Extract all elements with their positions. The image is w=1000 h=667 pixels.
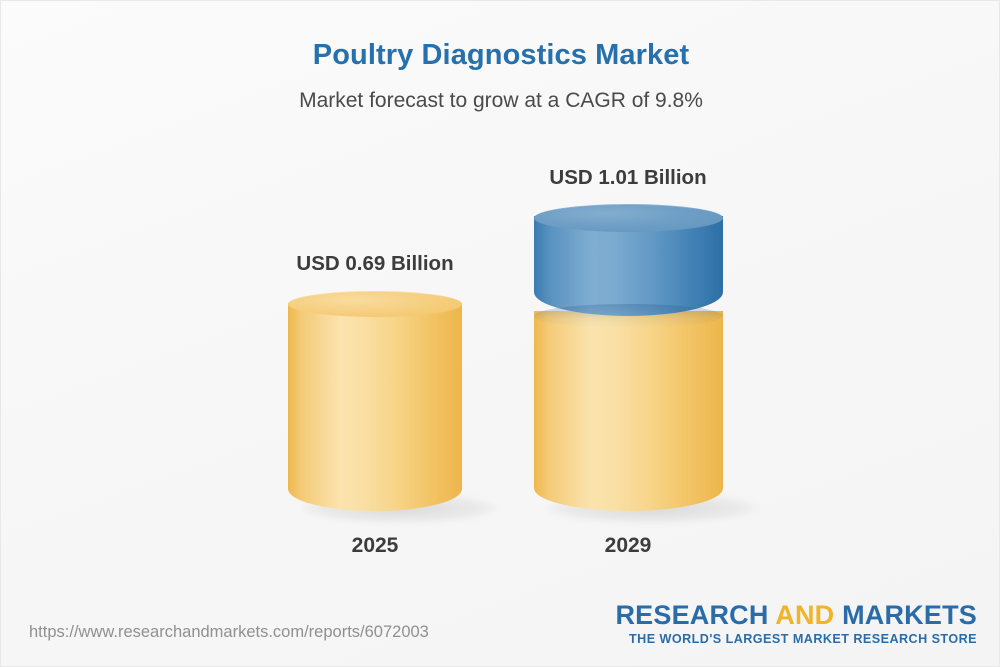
bar-category-label-2029: 2029 xyxy=(528,534,728,558)
bar-value-label-2025: USD 0.69 Billion xyxy=(275,252,475,276)
bar-segment-joint-2029 xyxy=(534,304,723,328)
brand-logo-wordmark: RESEARCH AND MARKETS xyxy=(615,601,977,629)
brand-logo-word-and: AND xyxy=(775,600,834,630)
brand-logo-word-research: RESEARCH xyxy=(615,600,775,630)
source-url[interactable]: https://www.researchandmarkets.com/repor… xyxy=(29,623,429,642)
bar-body-2025 xyxy=(288,303,462,511)
bar-base-segment-2029 xyxy=(534,311,723,511)
bar-top-cap-2029 xyxy=(534,204,723,232)
brand-logo-word-markets: MARKETS xyxy=(834,600,977,630)
brand-logo[interactable]: RESEARCH AND MARKETS THE WORLD'S LARGEST… xyxy=(615,601,977,646)
chart-plot-area: USD 0.69 Billion 2025 USD 1.01 Billion 2… xyxy=(1,1,1000,601)
chart-image: Poultry Diagnostics Market Market foreca… xyxy=(0,0,1000,667)
bar-top-cap-2025 xyxy=(288,291,462,317)
bar-category-label-2025: 2025 xyxy=(275,534,475,558)
brand-logo-tagline: THE WORLD'S LARGEST MARKET RESEARCH STOR… xyxy=(615,632,977,646)
bar-value-label-2029: USD 1.01 Billion xyxy=(528,166,728,190)
